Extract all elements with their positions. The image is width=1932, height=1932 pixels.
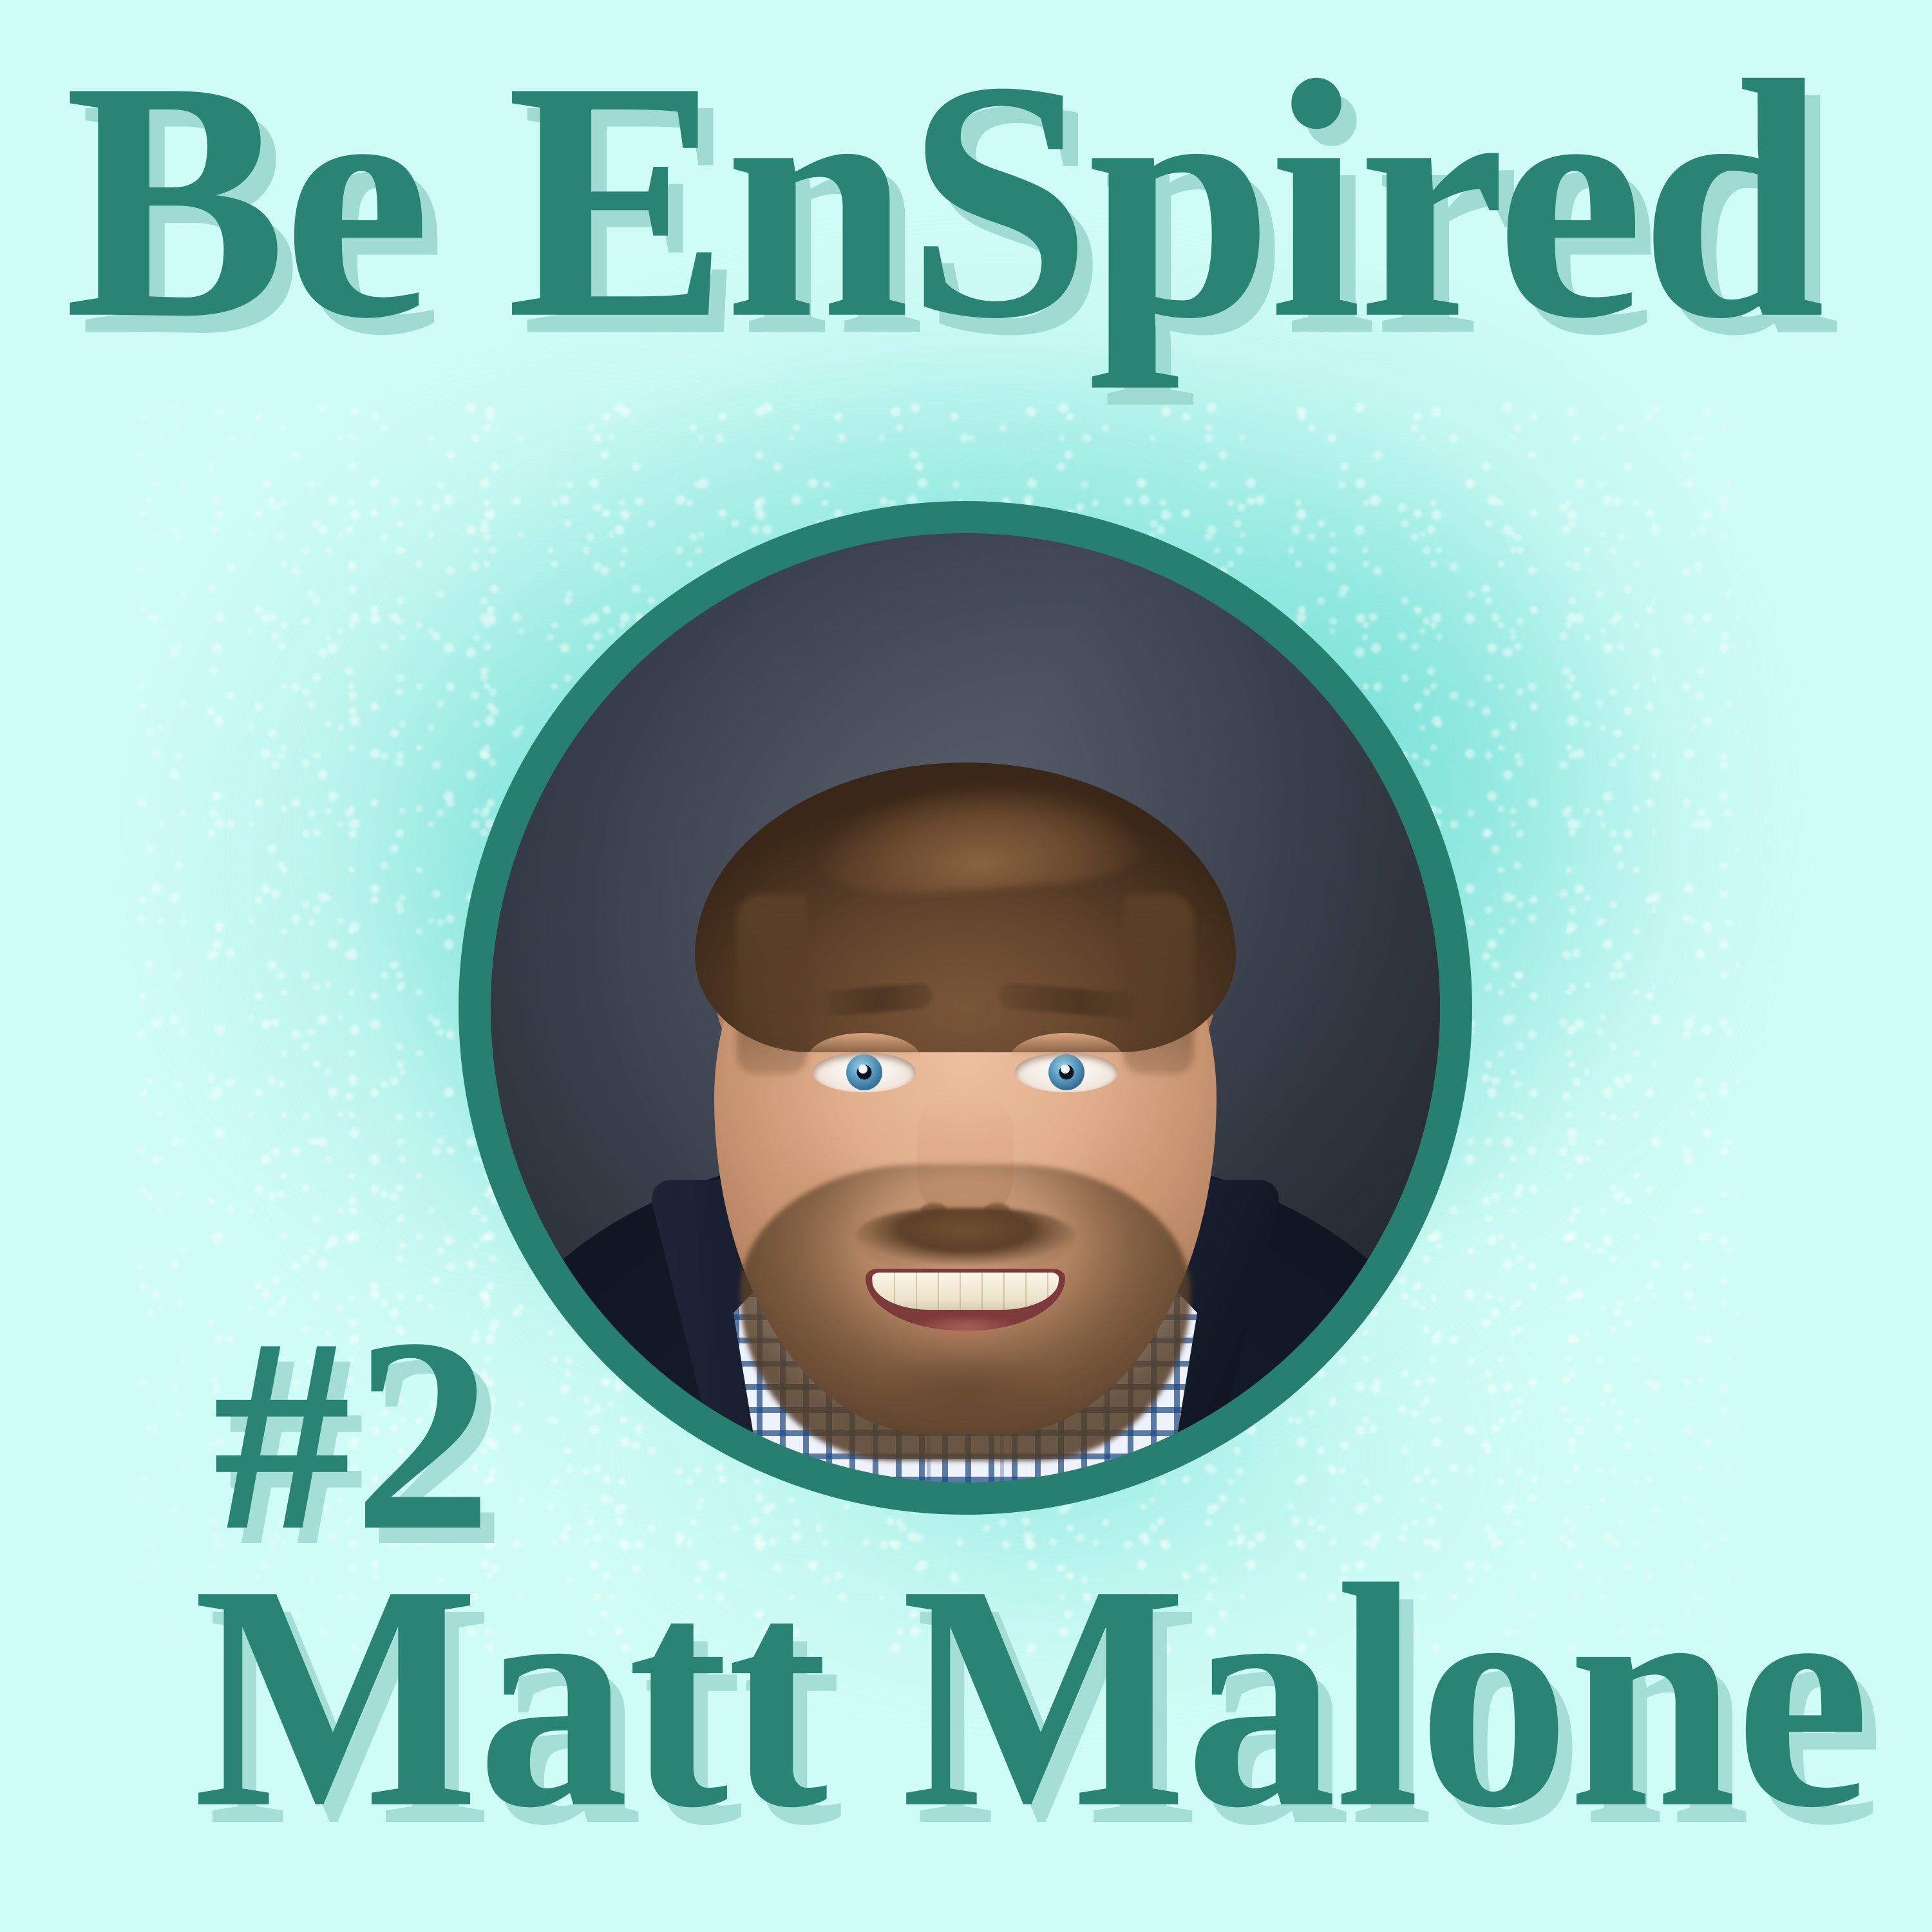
sideburn-right (1123, 894, 1194, 1074)
lower-lip (895, 1318, 1036, 1345)
guest-portrait (491, 533, 1440, 1482)
portrait-ring (459, 501, 1472, 1515)
portrait-subject (491, 533, 1440, 1482)
chin-shadow (849, 1352, 1081, 1449)
moustache (856, 1208, 1075, 1267)
guest-name: Matt Malone (193, 1560, 1771, 1833)
eye-glint-left (858, 1065, 867, 1074)
teeth (872, 1273, 1059, 1310)
eye-glint-right (1061, 1065, 1070, 1074)
sideburn-left (737, 894, 808, 1074)
podcast-cover-art: Be EnSpired #2 Matt Malone (0, 0, 1932, 1932)
podcast-title: Be EnSpired (64, 59, 1871, 342)
